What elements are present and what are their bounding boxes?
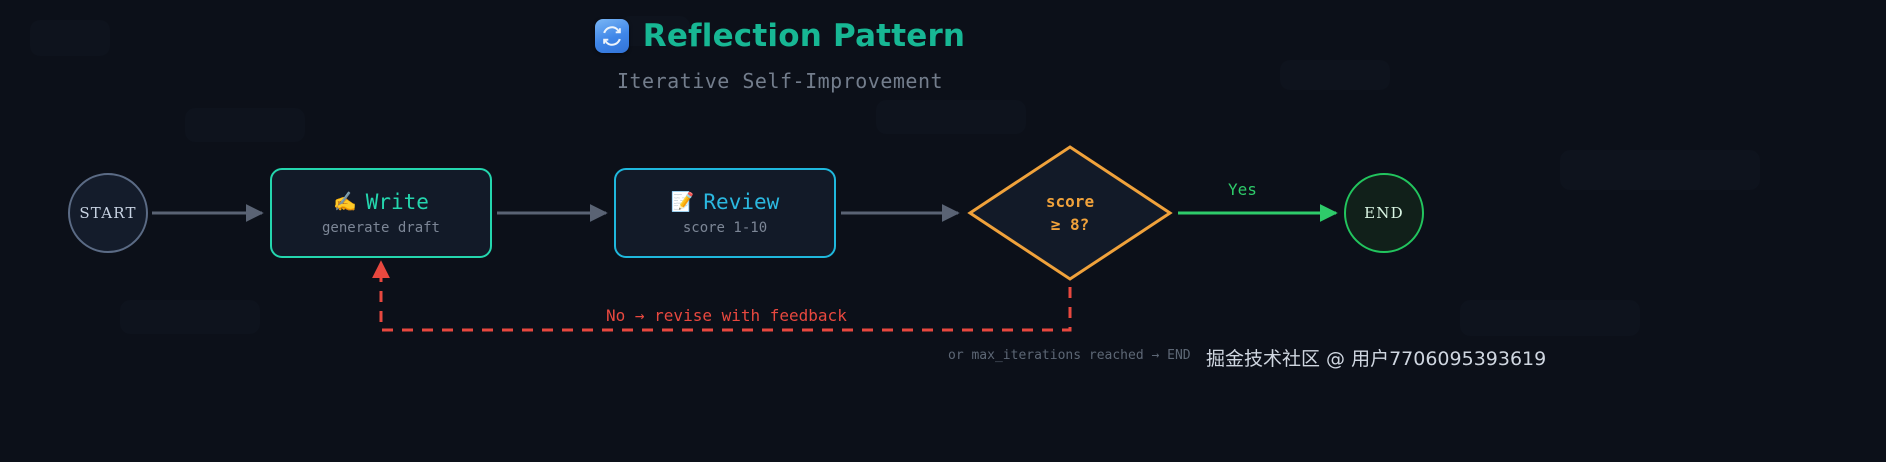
node-review-subtitle: score 1-10: [683, 221, 767, 235]
node-end[interactable]: END: [1344, 173, 1424, 253]
node-review-title-row: 📝 Review: [671, 192, 780, 213]
memo-icon: 📝: [671, 193, 695, 212]
page-title-row: Reflection Pattern: [0, 18, 1560, 54]
page-title: Reflection Pattern: [643, 18, 965, 54]
footer-note: or max_iterations reached → END: [948, 349, 1191, 362]
decision-line-1: score: [1046, 193, 1094, 211]
edge-label-no: No → revise with feedback: [606, 308, 847, 324]
background-texture: [185, 108, 305, 142]
node-start-label: START: [79, 204, 136, 222]
node-review-title: Review: [703, 192, 779, 213]
decision-label: score ≥ 8?: [966, 143, 1174, 283]
node-write-title: Write: [366, 192, 429, 213]
node-end-label: END: [1364, 204, 1404, 222]
background-texture: [1460, 300, 1640, 336]
background-texture: [876, 100, 1026, 134]
diagram-canvas: Reflection Pattern Iterative Self-Improv…: [0, 0, 1886, 462]
node-write[interactable]: ✍️ Write generate draft: [270, 168, 492, 258]
writing-hand-icon: ✍️: [333, 193, 357, 212]
node-decision[interactable]: score ≥ 8?: [966, 143, 1174, 283]
refresh-cycle-icon: [595, 19, 629, 53]
node-start[interactable]: START: [68, 173, 148, 253]
background-texture: [120, 300, 260, 334]
node-write-title-row: ✍️ Write: [333, 192, 429, 213]
edge-label-yes: Yes: [1228, 182, 1257, 198]
background-texture: [1560, 150, 1760, 190]
decision-line-2: ≥ 8?: [1051, 216, 1090, 234]
page-subtitle: Iterative Self-Improvement: [0, 69, 1560, 93]
node-write-subtitle: generate draft: [322, 221, 440, 235]
node-review[interactable]: 📝 Review score 1-10: [614, 168, 836, 258]
watermark-text: 掘金技术社区 @ 用户7706095393619: [1206, 344, 1546, 371]
